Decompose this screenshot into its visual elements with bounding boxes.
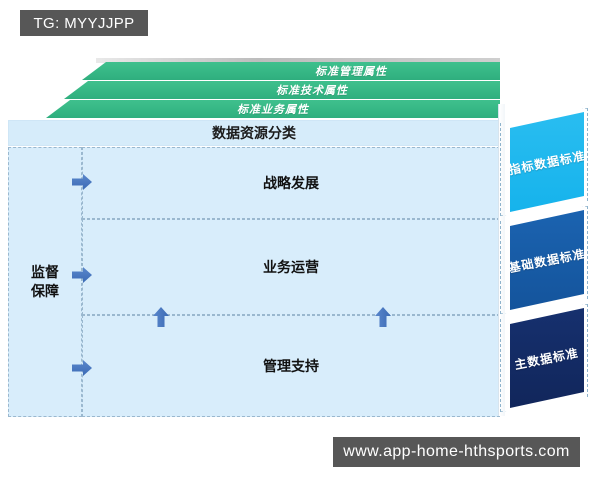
cell-management-support-label: 管理支持 [263, 357, 319, 376]
cell-management-support: 管理支持 [82, 315, 500, 417]
supervision-line-2: 保障 [31, 283, 59, 299]
green-layer-business: 标准业务属性 [46, 100, 500, 118]
side-panel-basic-label: 基础数据标准 [507, 244, 587, 276]
diagram-canvas: 标准管理属性 标准技术属性 标准业务属性 数据资源分类 监督保障 战略发展 业务… [0, 0, 600, 480]
side-panel-basic-data-standard: 基础数据标准 [510, 210, 584, 310]
watermark-url-bottom: www.app-home-hthsports.com [333, 437, 580, 467]
cell-business-operation: 业务运营 [82, 219, 500, 315]
green-layer-management: 标准管理属性 [82, 62, 500, 80]
side-panel-indicator-data-standard: 指标数据标准 [510, 112, 584, 212]
supervision-line-1: 监督 [31, 264, 59, 280]
main-panel: 监督保障 战略发展 业务运营 管理支持 [8, 147, 500, 417]
header-bar-label: 数据资源分类 [212, 123, 296, 143]
side-panel-master-label: 主数据标准 [513, 343, 580, 372]
watermark-tag-top: TG: MYYJJPP [20, 10, 148, 36]
green-layer-management-label: 标准管理属性 [82, 63, 500, 79]
side-panel-master-data-standard: 主数据标准 [510, 308, 584, 408]
green-layer-technical-label: 标准技术属性 [64, 82, 500, 98]
side-panel-indicator-label: 指标数据标准 [507, 146, 587, 178]
cell-business-operation-label: 业务运营 [263, 258, 319, 277]
green-layer-technical: 标准技术属性 [64, 81, 500, 99]
header-bar-data-resource-classification: 数据资源分类 [8, 120, 500, 146]
cell-supervision-guarantee-label: 监督保障 [31, 263, 59, 301]
cell-supervision-guarantee: 监督保障 [8, 147, 82, 417]
cell-strategy-development: 战略发展 [82, 147, 500, 219]
cell-strategy-development-label: 战略发展 [263, 174, 319, 193]
green-layer-business-label: 标准业务属性 [46, 101, 500, 117]
side-panel-group: 指标数据标准 基础数据标准 主数据标准 [498, 100, 594, 420]
